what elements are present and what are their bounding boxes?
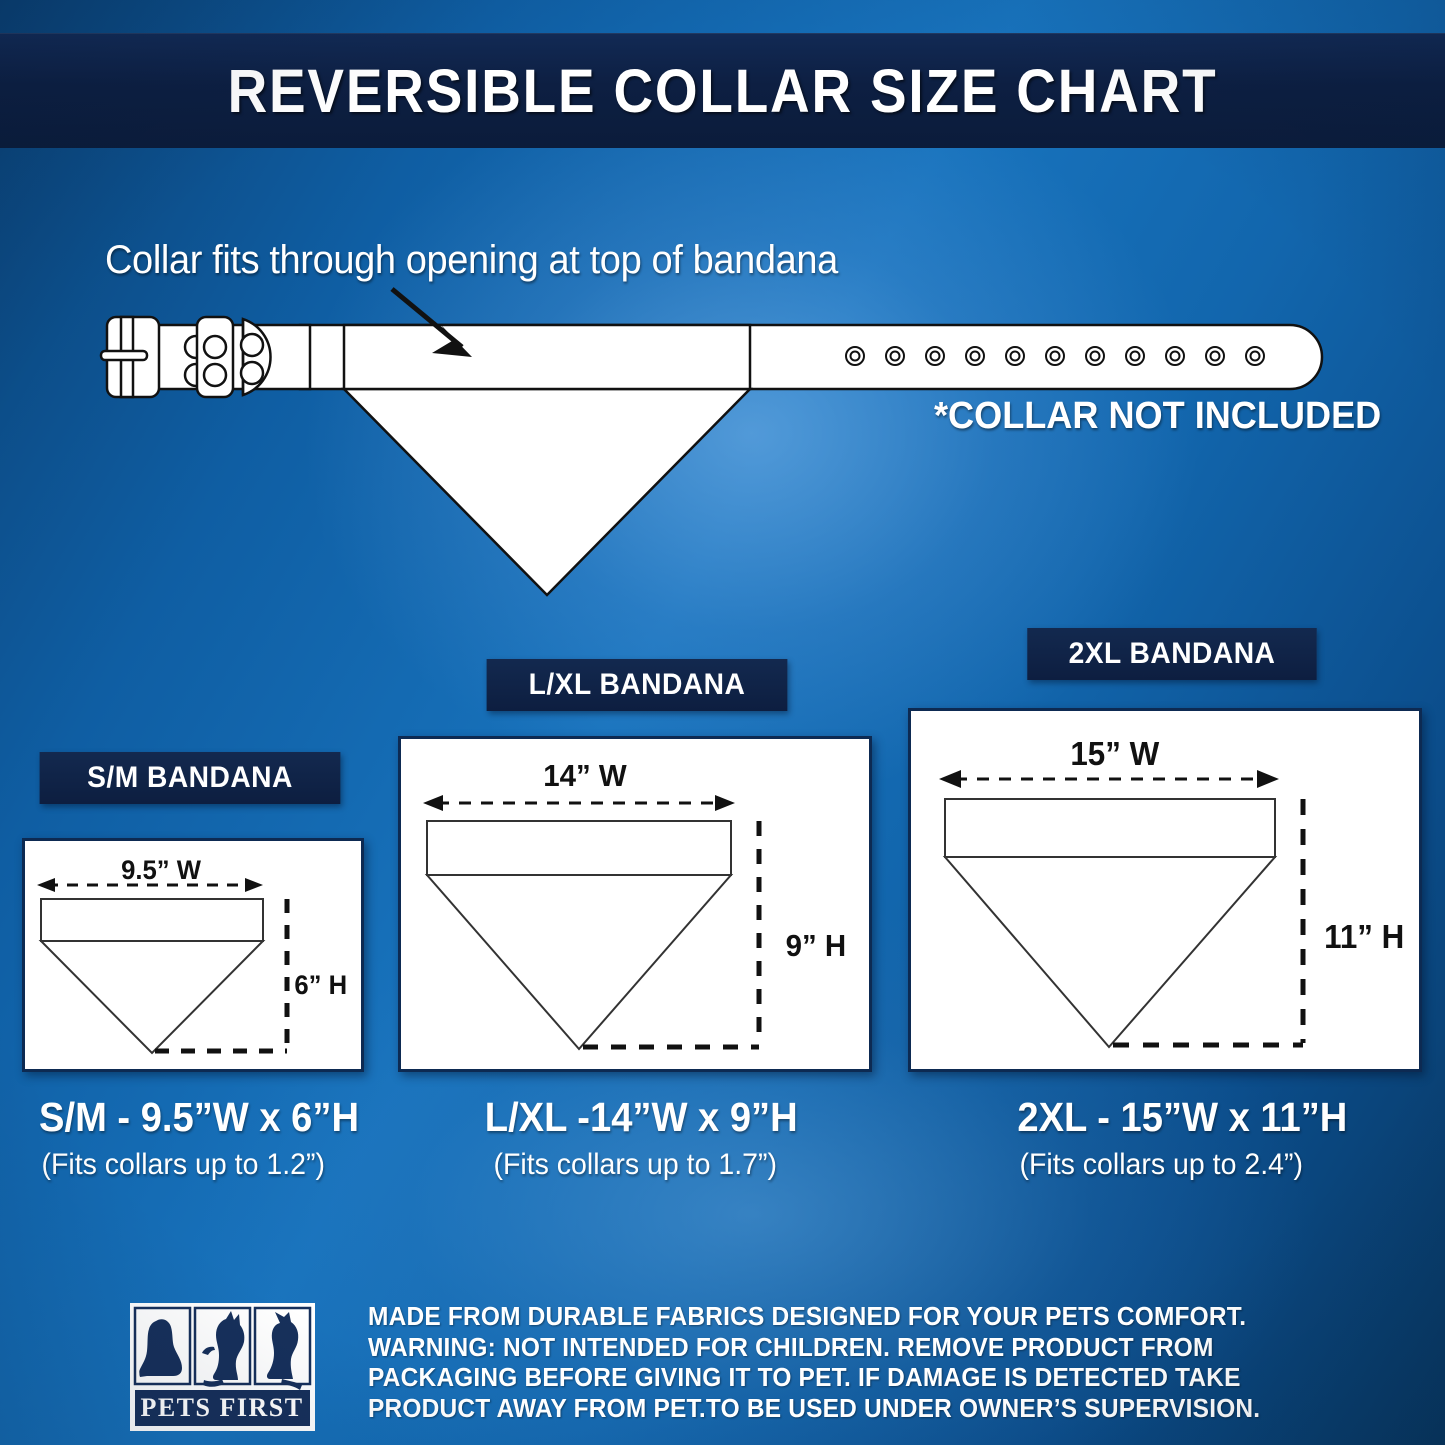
caption-title-lxl: L/XL -14”W x 9”H <box>485 1094 798 1141</box>
caption-sub-lxl: (Fits collars up to 1.7”) <box>493 1148 777 1182</box>
buckle-prong <box>101 351 147 360</box>
size-box-lxl <box>398 736 872 1072</box>
rivet-icon <box>204 336 226 358</box>
bandana-sleeve-xxl <box>945 799 1275 857</box>
bandana-sleeve-lxl <box>427 821 731 875</box>
caption-title-sm: S/M - 9.5”W x 6”H <box>39 1094 359 1141</box>
caption-sub-sm: (Fits collars up to 1.2”) <box>41 1148 325 1182</box>
caption-sub-xxl: (Fits collars up to 2.4”) <box>1019 1148 1303 1182</box>
logo-svg: PETS FIRST <box>130 1303 315 1431</box>
dim-label-width-sm: 9.5” W <box>121 855 201 886</box>
page-title: REVERSIBLE COLLAR SIZE CHART <box>72 33 1373 148</box>
footer-disclaimer: MADE FROM DURABLE FABRICS DESIGNED FOR Y… <box>368 1302 1318 1424</box>
size-badge-sm: S/M BANDANA <box>40 752 341 804</box>
rivet-icon <box>204 364 226 386</box>
bandana-triangle <box>344 389 750 595</box>
size-diagram-lxl <box>401 739 863 1063</box>
bandana-triangle-lxl <box>427 875 731 1049</box>
rivet-icon <box>241 334 263 356</box>
dim-label-height-xxl: 11” H <box>1324 918 1404 956</box>
dim-arrow-right <box>245 878 263 892</box>
dim-arrow-left <box>939 770 961 788</box>
disclaimer-line-4: PRODUCT AWAY FROM PET.TO BE USED UNDER O… <box>368 1394 1318 1425</box>
disclaimer-line-2: WARNING: NOT INTENDED FOR CHILDREN. REMO… <box>368 1333 1318 1364</box>
dim-label-width-lxl: 14” W <box>543 758 626 794</box>
dim-arrow-right <box>1257 770 1279 788</box>
size-badge-xxl: 2XL BANDANA <box>1027 628 1317 680</box>
logo-text: PETS FIRST <box>140 1393 303 1422</box>
rivet-icon <box>241 362 263 384</box>
collar-not-included-note: *COLLAR NOT INCLUDED <box>934 395 1381 438</box>
bandana-sleeve <box>344 325 750 389</box>
disclaimer-line-3: PACKAGING BEFORE GIVING IT TO PET. IF DA… <box>368 1363 1318 1394</box>
size-box-xxl <box>908 708 1422 1072</box>
bandana-triangle-xxl <box>945 857 1275 1047</box>
bandana-sleeve-sm <box>41 899 263 941</box>
pets-first-logo: PETS FIRST <box>130 1303 315 1431</box>
size-diagram-xxl <box>911 711 1413 1063</box>
dim-label-height-sm: 6” H <box>294 970 347 1001</box>
dim-label-width-xxl: 15” W <box>1070 735 1159 773</box>
size-badge-lxl: L/XL BANDANA <box>487 659 788 711</box>
dim-label-height-lxl: 9” H <box>786 928 847 964</box>
disclaimer-line-1: MADE FROM DURABLE FABRICS DESIGNED FOR Y… <box>368 1302 1318 1333</box>
bandana-triangle-sm <box>41 941 263 1053</box>
dim-arrow-left <box>37 878 55 892</box>
dim-arrow-left <box>423 795 443 811</box>
dim-arrow-right <box>715 795 735 811</box>
caption-title-xxl: 2XL - 15”W x 11”H <box>1017 1094 1347 1141</box>
